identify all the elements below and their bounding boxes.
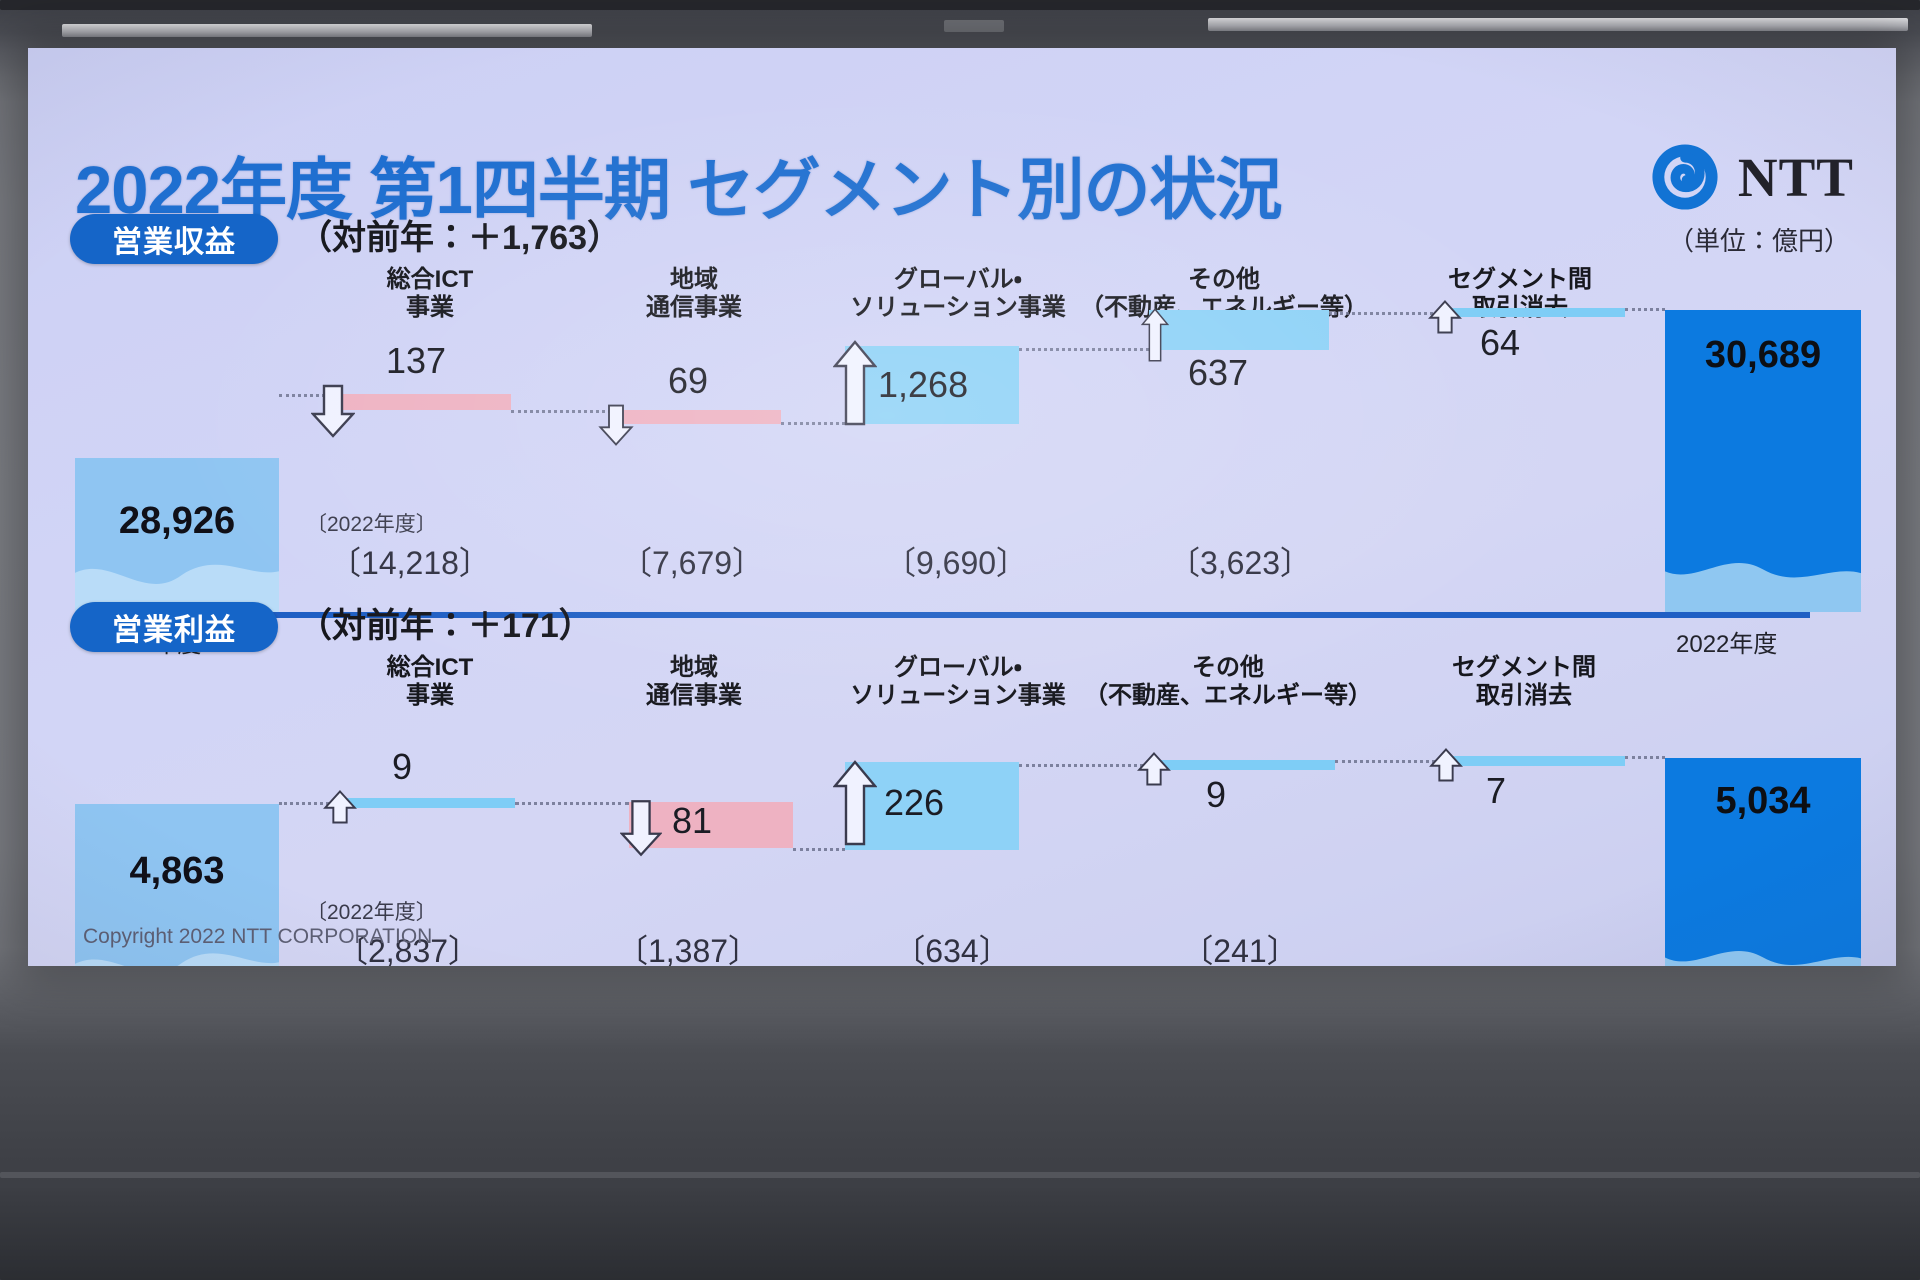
step-value-revenue-3: 637 — [1188, 352, 1248, 394]
bracket-note-profit: 〔2022年度〕 — [306, 896, 437, 926]
step-value-profit-0: 9 — [392, 746, 412, 788]
column-header-revenue-1: 地域 通信事業 — [646, 266, 742, 322]
column-header-profit-2: グローバル・ ソリューション事業 — [850, 654, 1066, 710]
bar-revenue-start: 28,926 — [75, 458, 279, 612]
connector-profit-1 — [515, 802, 629, 805]
connector-profit-4 — [1335, 760, 1441, 763]
arrow-up-icon-profit-0 — [322, 790, 358, 824]
ceiling-light-left — [62, 24, 592, 37]
step-value-revenue-1: 69 — [668, 360, 708, 402]
ceiling-vent — [944, 20, 1004, 32]
column-header-revenue-2: グローバル・ ソリューション事業 — [850, 266, 1066, 322]
bracket-value-revenue-3: 〔3,623〕 — [1168, 538, 1312, 584]
bar-wave-decoration-end-2 — [1665, 926, 1861, 966]
arrow-down-icon-profit-1 — [620, 796, 662, 860]
arrow-down-icon-revenue-0 — [311, 384, 355, 438]
connector-revenue-4 — [1329, 312, 1439, 315]
column-header-profit-0: 総合ICT 事業 — [387, 654, 474, 710]
bar-profit-end-value: 5,034 — [1665, 780, 1861, 823]
floor-shadow — [0, 1188, 1920, 1280]
column-header-profit-4: セグメント間 取引消去 — [1452, 654, 1596, 710]
arrow-down-icon-revenue-1 — [598, 404, 634, 446]
ceiling-light-right — [1208, 18, 1908, 31]
connector-profit-3 — [1019, 764, 1149, 767]
connector-revenue-1 — [511, 410, 611, 413]
ntt-logo: NTT — [1648, 140, 1854, 214]
step-value-revenue-2: 1,268 — [878, 364, 968, 406]
bar-revenue-end-value: 30,689 — [1665, 334, 1861, 377]
step-bar-revenue-1 — [611, 410, 781, 424]
column-header-revenue-0: 総合ICT 事業 — [387, 266, 474, 322]
step-bar-profit-0 — [335, 798, 515, 808]
step-value-revenue-0: 137 — [386, 340, 446, 382]
bar-revenue-start-value: 28,926 — [75, 500, 279, 543]
wall-panel-seam — [0, 1172, 1920, 1178]
unit-note: （単位：億円） — [1668, 221, 1850, 258]
ntt-logo-text: NTT — [1738, 146, 1854, 209]
step-value-profit-3: 9 — [1206, 774, 1226, 816]
waterfall-plot-revenue: 28,926 137 69 — [28, 332, 1896, 632]
bracket-value-revenue-1: 〔7,679〕 — [620, 538, 764, 584]
step-bar-profit-4 — [1441, 756, 1625, 766]
status-badge-revenue: 営業収益 — [70, 214, 278, 264]
bar-wave-decoration-end — [1665, 538, 1861, 612]
revenue-delta-label: （対前年：＋1,763） — [298, 210, 621, 259]
arrow-up-icon-profit-4 — [1428, 748, 1464, 782]
projection-screen: 2022年度 第1四半期 セグメント別の状況 NTT （単位：億円） 営業収益 … — [28, 48, 1896, 966]
bar-revenue-end: 30,689 — [1665, 310, 1861, 612]
arrow-up-icon-profit-3 — [1136, 752, 1172, 786]
status-badge-profit: 営業利益 — [70, 602, 278, 652]
step-bar-revenue-3 — [1149, 310, 1329, 350]
arrow-up-icon-revenue-2 — [833, 340, 877, 426]
bar-wave-decoration — [75, 538, 279, 612]
step-bar-revenue-0 — [331, 394, 511, 410]
step-bar-revenue-4 — [1439, 308, 1625, 317]
bar-profit-start-value: 4,863 — [75, 850, 279, 893]
step-value-profit-4: 7 — [1486, 770, 1506, 812]
column-header-profit-1: 地域 通信事業 — [646, 654, 742, 710]
step-value-profit-1: 81 — [672, 800, 712, 842]
connector-revenue-3 — [1019, 348, 1149, 351]
step-bar-profit-3 — [1149, 760, 1335, 770]
bracket-value-profit-2: 〔634〕 — [893, 926, 1010, 966]
arrow-up-icon-revenue-3 — [1135, 308, 1175, 362]
slide-canvas: 2022年度 第1四半期 セグメント別の状況 NTT （単位：億円） 営業収益 … — [28, 48, 1896, 966]
axis-label-revenue-right: 2022年度 — [1676, 624, 1777, 659]
ceiling-seam-left — [0, 0, 1920, 10]
bracket-value-profit-3: 〔241〕 — [1181, 926, 1298, 966]
bar-profit-end: 5,034 — [1665, 758, 1861, 966]
step-value-profit-2: 226 — [884, 782, 944, 824]
arrow-up-icon-revenue-4 — [1427, 300, 1463, 334]
step-value-revenue-4: 64 — [1480, 322, 1520, 364]
ntt-loop-icon — [1648, 140, 1722, 214]
bracket-value-profit-1: 〔1,387〕 — [616, 926, 760, 966]
arrow-up-icon-profit-2 — [833, 756, 877, 850]
bracket-value-revenue-2: 〔9,690〕 — [884, 538, 1028, 584]
connector-revenue-end — [1625, 308, 1665, 311]
connector-profit-end — [1625, 756, 1665, 759]
column-header-profit-3: その他 （不動産、エネルギー等） — [1084, 654, 1372, 710]
profit-delta-label: （対前年：＋171） — [298, 598, 593, 647]
bracket-note-revenue: 〔2022年度〕 — [306, 508, 437, 538]
copyright-text: Copyright 2022 NTT CORPORATION — [83, 925, 432, 949]
bracket-value-revenue-0: 〔14,218〕 — [329, 538, 491, 584]
